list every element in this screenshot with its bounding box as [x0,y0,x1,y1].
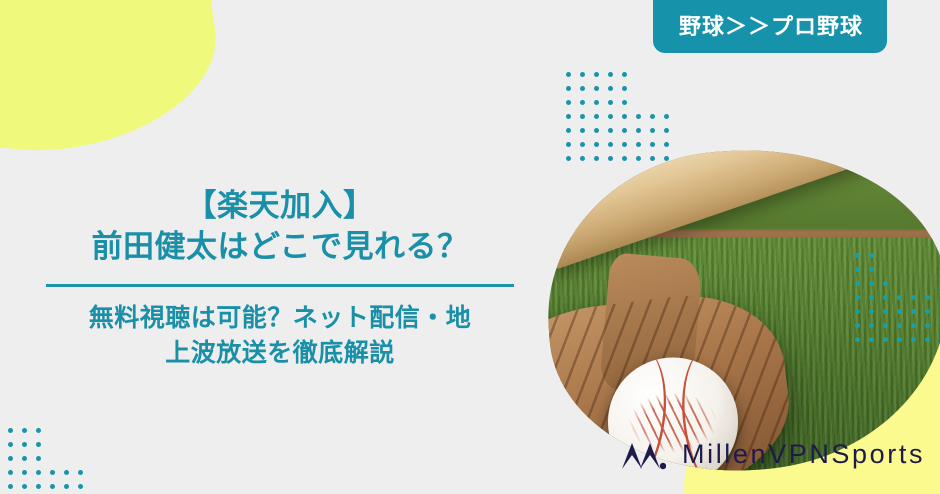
dot-grid-row [855,253,939,267]
dot [925,295,930,300]
dot [855,253,860,258]
dot [580,86,585,91]
dot [622,156,627,161]
dot [8,470,13,475]
dot [8,442,13,447]
dot-grid-row [566,156,678,170]
dot [608,128,613,133]
dot [22,456,27,461]
dot [566,100,571,105]
dot [897,295,902,300]
dot [64,470,69,475]
dot [580,72,585,77]
dot [50,470,55,475]
dot [608,156,613,161]
thumbnail-canvas: 野球＞＞プロ野球 【楽天加入】 前田健太はどこで見れる？ 無料視聴は可能？ネット… [0,0,940,494]
dot [566,128,571,133]
dot [608,100,613,105]
brand-logo: MillenVPNSports [620,439,925,470]
dot [8,428,13,433]
dot [64,484,69,489]
dot [594,100,599,105]
dot [869,295,874,300]
dot-grid-row [566,114,678,128]
dot-grid-bottom [8,428,92,494]
dot [883,337,888,342]
dot [897,323,902,328]
dot [911,309,916,314]
dot-grid-row [566,100,678,114]
dot [36,470,41,475]
dot-grid-row [855,267,939,281]
dot [580,100,585,105]
dot-grid-row [855,309,939,323]
dot [594,156,599,161]
dot [622,100,627,105]
dot [855,295,860,300]
dot [925,323,930,328]
dot [608,86,613,91]
millen-m-mark-icon [620,440,666,470]
dot [36,442,41,447]
dot-grid-top [566,72,678,170]
dot-grid-row [855,281,939,295]
dot [566,86,571,91]
dot [594,86,599,91]
dot [594,128,599,133]
subheadline-line-1: 無料視聴は可能？ネット配信・地 [0,301,560,337]
dot-grid-row [566,86,678,100]
dot [622,72,627,77]
dot [580,128,585,133]
dot [650,142,655,147]
logo-wordmark: MillenVPNSports [682,439,925,470]
dot [8,484,13,489]
dot [855,309,860,314]
dot-grid-row [855,295,939,309]
dot [566,142,571,147]
dot-grid-row [8,470,92,484]
dot [911,295,916,300]
dot-grid-row [566,72,678,86]
dot [594,142,599,147]
headline-line-1: 【楽天加入】 [0,186,560,227]
dot [650,128,655,133]
dot [36,484,41,489]
headline-line-2: 前田健太はどこで見れる？ [0,227,560,268]
dot-grid-right [855,253,939,351]
dot [636,142,641,147]
dot [855,323,860,328]
dot [622,128,627,133]
dot [622,114,627,119]
dot [925,309,930,314]
dot [22,470,27,475]
dot [22,428,27,433]
dot [897,309,902,314]
dot-grid-row [8,484,92,494]
dot [566,114,571,119]
dot [580,156,585,161]
dot [594,114,599,119]
dot-grid-row [8,456,92,470]
dot-grid-row [855,337,939,351]
dot [911,337,916,342]
dot [897,337,902,342]
dot-grid-row [8,442,92,456]
dot [622,142,627,147]
dot [580,114,585,119]
dot [566,72,571,77]
dot [855,267,860,272]
yellow-blob-top-left [0,0,229,172]
dot [869,337,874,342]
dot [566,156,571,161]
dot-grid-row [855,323,939,337]
dot [869,253,874,258]
dot [636,114,641,119]
dot [78,484,83,489]
dot-grid-row [566,128,678,142]
dot [664,142,669,147]
dot [580,142,585,147]
dot [869,309,874,314]
dot-grid-row [8,428,92,442]
dot [883,295,888,300]
dot [608,142,613,147]
dot [22,442,27,447]
dot [608,72,613,77]
dot [869,281,874,286]
dot [8,456,13,461]
dot [36,428,41,433]
dot [636,156,641,161]
dot [22,484,27,489]
dot [911,323,916,328]
dot [925,337,930,342]
dot [664,114,669,119]
dot [664,128,669,133]
category-badge[interactable]: 野球＞＞プロ野球 [653,0,887,53]
subheadline-line-2: 上波放送を徹底解説 [0,336,560,372]
dot [855,281,860,286]
dot [650,156,655,161]
dot [664,156,669,161]
dot [636,128,641,133]
dot [78,470,83,475]
title-divider [46,284,514,287]
dot [869,323,874,328]
dot [855,337,860,342]
dot [883,309,888,314]
dot [869,267,874,272]
dot [883,323,888,328]
dot [36,456,41,461]
title-block: 【楽天加入】 前田健太はどこで見れる？ 無料視聴は可能？ネット配信・地 上波放送… [0,186,560,372]
dot [883,281,888,286]
dot-grid-row [566,142,678,156]
dot [594,72,599,77]
dot [622,86,627,91]
dot [650,114,655,119]
dot [608,114,613,119]
dot [50,484,55,489]
